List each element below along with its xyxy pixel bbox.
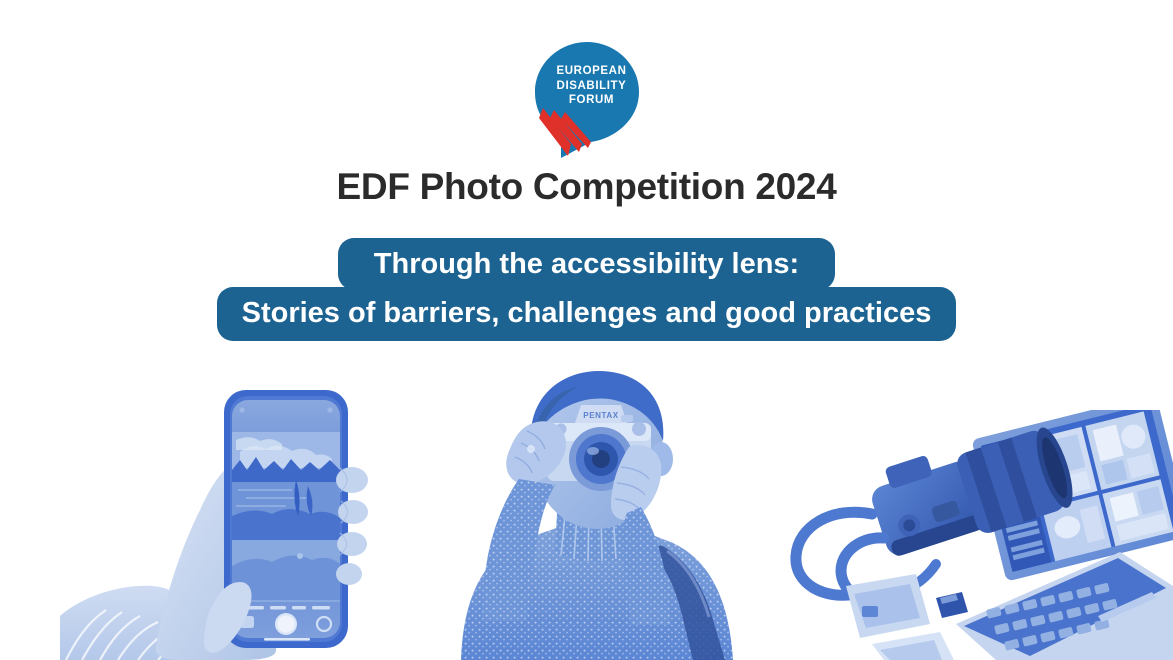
photo-person-with-camera: PENTAX: [415, 355, 785, 660]
logo-container: EUROPEAN DISABILITY FORUM: [0, 38, 1173, 158]
subtitle-line-2: Stories of barriers, challenges and good…: [217, 287, 957, 341]
photo-camera-and-laptop: [780, 410, 1173, 660]
poster: EUROPEAN DISABILITY FORUM EDF Photo Comp…: [0, 0, 1173, 660]
svg-text:PENTAX: PENTAX: [583, 411, 619, 420]
subtitle-banner: Through the accessibility lens: Stories …: [0, 238, 1173, 341]
subtitle-line-1: Through the accessibility lens:: [338, 238, 835, 290]
photo-strip: PENTAX: [0, 355, 1173, 660]
photo-hand-holding-smartphone: [60, 360, 430, 660]
edf-logo: EUROPEAN DISABILITY FORUM: [527, 38, 647, 158]
page-title: EDF Photo Competition 2024: [0, 166, 1173, 208]
